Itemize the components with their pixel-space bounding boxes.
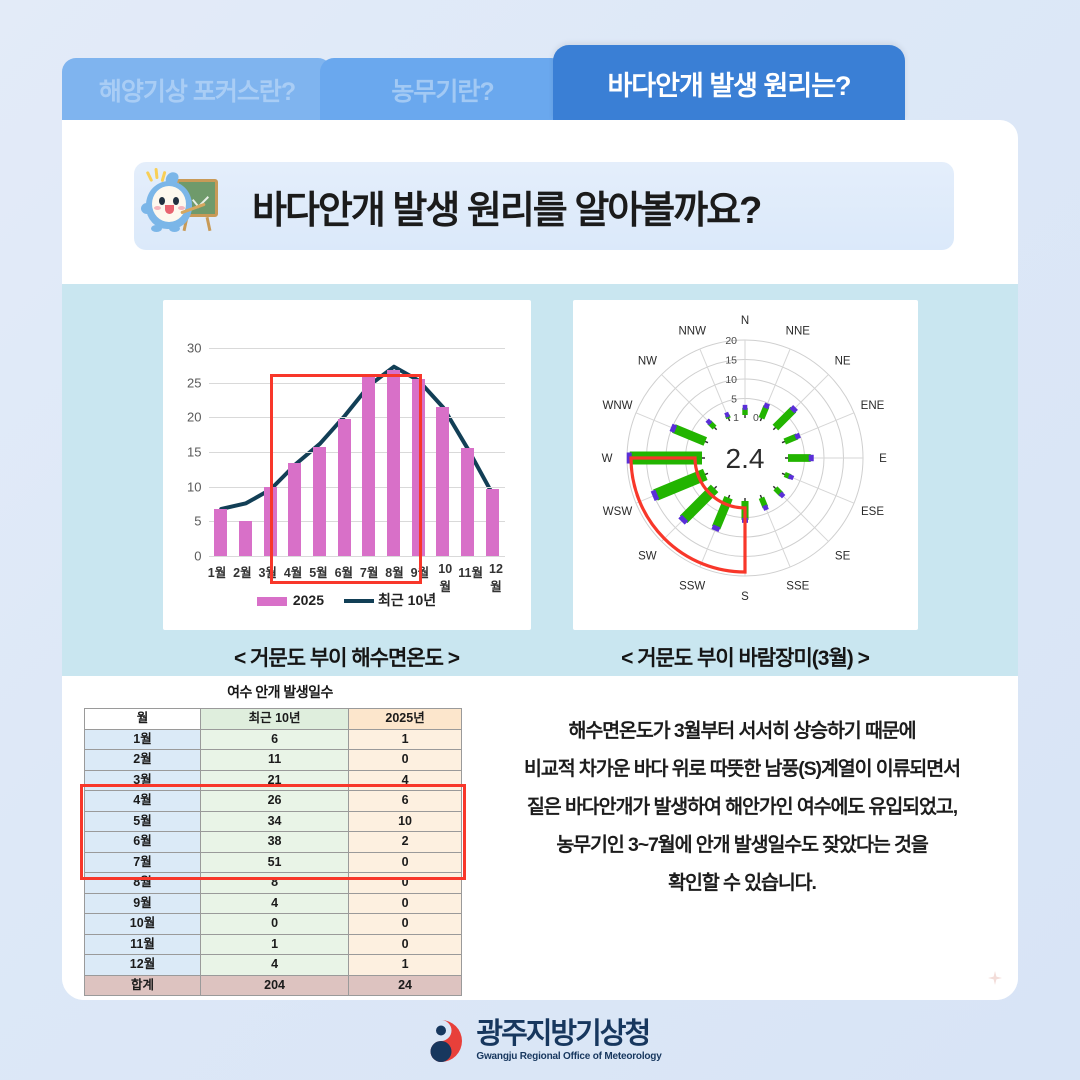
- cell-2025: 0: [349, 852, 462, 873]
- cell-10yr: 4: [201, 955, 349, 976]
- cell-2025: 0: [349, 750, 462, 771]
- mascot-foot-left: [151, 225, 162, 232]
- sparkle-icon: [988, 971, 1002, 985]
- y-axis-tick-label: 25: [187, 375, 201, 390]
- cell-total-label: 합계: [85, 975, 201, 996]
- org-name-en: Gwangju Regional Office of Meteorology: [476, 1052, 661, 1062]
- windrose-radial-tick: 20: [725, 335, 737, 347]
- windrose-center-value: 2.4: [725, 443, 764, 474]
- table-row: 3월214: [85, 770, 462, 791]
- windrose-petal-tip: [765, 404, 767, 409]
- content-card: 바다안개 발생 원리를 알아볼까요? 051015202530 1월2월3월4월…: [62, 120, 1018, 1000]
- cell-2025: 0: [349, 893, 462, 914]
- windrose-direction-label: SSW: [679, 580, 705, 592]
- sst-bar: [338, 419, 351, 556]
- gridline: [209, 348, 505, 349]
- windrose-petal-tip: [707, 420, 711, 424]
- cell-10yr: 8: [201, 873, 349, 894]
- table-row: 12월41: [85, 955, 462, 976]
- windrose-direction-label: NNW: [678, 326, 706, 338]
- windrose-direction-label: N: [740, 315, 748, 327]
- windrose-petal-tip: [681, 518, 685, 522]
- windrose-radial-tick: 10: [725, 374, 737, 386]
- windrose-direction-label: E: [879, 453, 887, 465]
- windrose-direction-label: SSE: [786, 580, 809, 592]
- cell-10yr: 51: [201, 852, 349, 873]
- windrose-petal: [673, 429, 704, 442]
- cell-10yr: 26: [201, 791, 349, 812]
- windrose-svg: 2.4015101520NNNENEENEEESESESSESSSWSWWSWW…: [573, 300, 918, 630]
- y-axis-tick-label: 0: [194, 549, 201, 564]
- tab-bar: 해양기상 포커스란? 농무기란? 바다안개 발생 원리는?: [62, 46, 952, 121]
- cell-total-2025: 24: [349, 975, 462, 996]
- table-row: 9월40: [85, 893, 462, 914]
- sst-bar: [239, 521, 252, 556]
- explanation-paragraph: 해수면온도가 3월부터 서서히 상승하기 때문에비교적 차가운 바다 위로 따뜻…: [482, 712, 1002, 902]
- paragraph-line: 농무기인 3~7월에 안개 발생일수도 잦았다는 것을: [482, 826, 1002, 864]
- sst-chart-wrap: 051015202530 1월2월3월4월5월6월7월8월9월10월11월12월…: [163, 300, 531, 676]
- paragraph-line: 확인할 수 있습니다.: [482, 864, 1002, 902]
- column-header-month: 월: [85, 709, 201, 730]
- legend-line-swatch-icon: [344, 599, 374, 603]
- cell-2025: 6: [349, 791, 462, 812]
- windrose-radial-tick: 1: [733, 412, 739, 424]
- windrose-direction-label: ENE: [860, 400, 884, 412]
- windrose-petal-tip: [714, 526, 716, 531]
- cell-month: 12월: [85, 955, 201, 976]
- y-axis-tick-label: 15: [187, 445, 201, 460]
- windrose-direction-label: SE: [834, 551, 850, 563]
- cell-month: 7월: [85, 852, 201, 873]
- cell-month: 2월: [85, 750, 201, 771]
- cell-2025: 10: [349, 811, 462, 832]
- sst-bar: [461, 448, 474, 556]
- gridline: [209, 556, 505, 557]
- cell-2025: 0: [349, 873, 462, 894]
- table-row: 10월00: [85, 914, 462, 935]
- windrose-petal: [775, 410, 793, 428]
- cell-month: 4월: [85, 791, 201, 812]
- cell-10yr: 4: [201, 893, 349, 914]
- sst-bar: [436, 407, 449, 556]
- table-row: 1월61: [85, 729, 462, 750]
- tab-fog-season[interactable]: 농무기란?: [320, 58, 565, 121]
- tab-label: 바다안개 발생 원리는?: [607, 64, 850, 103]
- page-title: 바다안개 발생 원리를 알아볼까요?: [252, 179, 760, 234]
- cell-10yr: 11: [201, 750, 349, 771]
- cell-month: 9월: [85, 893, 201, 914]
- cell-month: 1월: [85, 729, 201, 750]
- y-axis-tick-label: 30: [187, 341, 201, 356]
- legend-item-10yr: 최근 10년: [344, 590, 436, 610]
- cell-month: 11월: [85, 934, 201, 955]
- tab-ocean-weather-focus[interactable]: 해양기상 포커스란?: [62, 58, 332, 121]
- table-header-row: 월 최근 10년 2025년: [85, 709, 462, 730]
- tab-label: 농무기란?: [391, 72, 493, 108]
- sst-bar: [313, 447, 326, 556]
- legend-item-2025: 2025: [257, 592, 324, 608]
- windrose-petal-tip: [795, 435, 800, 437]
- section-banner: 바다안개 발생 원리를 알아볼까요?: [134, 162, 954, 250]
- org-name-kr: 광주지방기상청: [476, 1020, 661, 1049]
- mascot-cheek-left: [154, 206, 161, 210]
- column-header-2025: 2025년: [349, 709, 462, 730]
- cell-2025: 0: [349, 914, 462, 935]
- cell-month: 3월: [85, 770, 201, 791]
- windrose-direction-label: NNE: [785, 326, 810, 338]
- footer: 광주지방기상청 Gwangju Regional Office of Meteo…: [0, 1010, 1080, 1072]
- y-axis-tick-label: 5: [194, 514, 201, 529]
- mascot-belly: [152, 186, 186, 222]
- tab-sea-fog-mechanism[interactable]: 바다안개 발생 원리는?: [553, 45, 905, 121]
- cell-10yr: 21: [201, 770, 349, 791]
- table-row: 6월382: [85, 832, 462, 853]
- windrose-petal-tip: [671, 427, 676, 429]
- sst-bar: [264, 487, 277, 556]
- paragraph-line: 짙은 바다안개가 발생하여 해안가인 여수에도 유입되었고,: [482, 788, 1002, 826]
- taeguk-logo-icon: [418, 1018, 464, 1064]
- cell-2025: 1: [349, 729, 462, 750]
- windrose-radial-tick: 0: [753, 412, 759, 424]
- sst-chart: 051015202530 1월2월3월4월5월6월7월8월9월10월11월12월…: [163, 300, 531, 630]
- windrose-direction-label: S: [741, 591, 749, 603]
- organization-name: 광주지방기상청 Gwangju Regional Office of Meteo…: [476, 1020, 661, 1062]
- table-row: 8월80: [85, 873, 462, 894]
- table-row: 4월266: [85, 791, 462, 812]
- table-row: 5월3410: [85, 811, 462, 832]
- cell-month: 6월: [85, 832, 201, 853]
- sst-chart-caption: < 거문도 부이 해수면온도 >: [234, 642, 459, 672]
- table-row: 7월510: [85, 852, 462, 873]
- sst-legend: 2025 최근 10년: [163, 590, 531, 610]
- windrose-petal: [784, 436, 796, 441]
- mascot-eye-right: [173, 197, 179, 205]
- cell-10yr: 38: [201, 832, 349, 853]
- column-header-10yr: 최근 10년: [201, 709, 349, 730]
- cell-month: 8월: [85, 873, 201, 894]
- windrose-direction-label: WNW: [602, 400, 632, 412]
- charts-section: 051015202530 1월2월3월4월5월6월7월8월9월10월11월12월…: [62, 284, 1018, 676]
- tab-label: 해양기상 포커스란?: [99, 72, 295, 108]
- table-row: 2월110: [85, 750, 462, 771]
- cell-2025: 4: [349, 770, 462, 791]
- mascot-foot-right: [169, 225, 180, 232]
- cell-2025: 2: [349, 832, 462, 853]
- cell-month: 10월: [85, 914, 201, 935]
- cell-10yr: 0: [201, 914, 349, 935]
- windrose-petal-tip: [652, 494, 657, 496]
- sst-bar: [288, 463, 301, 556]
- windrose-direction-label: SW: [638, 551, 657, 563]
- table-total-row: 합계20424: [85, 975, 462, 996]
- cell-month: 5월: [85, 811, 201, 832]
- cell-2025: 0: [349, 934, 462, 955]
- cell-total-10yr: 204: [201, 975, 349, 996]
- cell-10yr: 34: [201, 811, 349, 832]
- paragraph-line: 비교적 차가운 바다 위로 따뜻한 남풍(S)계열이 이류되면서: [482, 750, 1002, 788]
- fog-days-table: 월 최근 10년 2025년 1월612월1103월2144월2665월3410…: [84, 708, 462, 996]
- sst-bar: [214, 509, 227, 556]
- gridline: [209, 417, 505, 418]
- mascot-eye-left: [159, 197, 165, 205]
- windrose-radial-tick: 5: [731, 394, 737, 406]
- windrose-radial-tick: 15: [725, 355, 737, 367]
- windrose-direction-label: NE: [834, 355, 850, 367]
- cell-10yr: 1: [201, 934, 349, 955]
- y-axis-tick-label: 20: [187, 410, 201, 425]
- mascot-mouth: [165, 205, 174, 214]
- paragraph-line: 해수면온도가 3월부터 서서히 상승하기 때문에: [482, 712, 1002, 750]
- cell-2025: 1: [349, 955, 462, 976]
- y-axis-tick-label: 10: [187, 479, 201, 494]
- bottom-section: 여수 안개 발생일수 월 최근 10년 2025년 1월612월1103월214…: [62, 676, 1018, 1000]
- sst-bar: [412, 379, 425, 556]
- sst-bar: [387, 370, 400, 556]
- windrose-direction-label: ESE: [860, 506, 883, 518]
- windrose-petal-tip: [780, 493, 784, 497]
- sst-bar: [486, 489, 499, 556]
- windrose-chart-wrap: 2.4015101520NNNENEENEEESESESSESSSWSWWSWW…: [573, 300, 918, 676]
- table-row: 11월10: [85, 934, 462, 955]
- windrose-petal-tip: [788, 476, 793, 478]
- windrose-chart-caption: < 거문도 부이 바람장미(3월) >: [621, 642, 869, 672]
- cell-10yr: 6: [201, 729, 349, 750]
- legend-label: 최근 10년: [378, 592, 436, 608]
- windrose-petal-tip: [792, 407, 796, 411]
- table-title: 여수 안개 발생일수: [80, 682, 480, 702]
- windrose-direction-label: W: [601, 453, 612, 465]
- windrose-petal-tip: [726, 413, 728, 418]
- windrose-direction-label: NW: [637, 355, 656, 367]
- legend-bar-swatch-icon: [257, 597, 287, 606]
- windrose-petal-tip: [764, 505, 766, 510]
- legend-label: 2025: [293, 592, 324, 608]
- gridline: [209, 383, 505, 384]
- sst-bar: [362, 375, 375, 556]
- sst-plot-area: 051015202530: [209, 348, 505, 556]
- windrose-chart: 2.4015101520NNNENEENEEESESESSESSSWSWWSWW…: [573, 300, 918, 630]
- windrose-direction-label: WSW: [602, 506, 632, 518]
- sea-fog-mascot-icon: [142, 167, 220, 245]
